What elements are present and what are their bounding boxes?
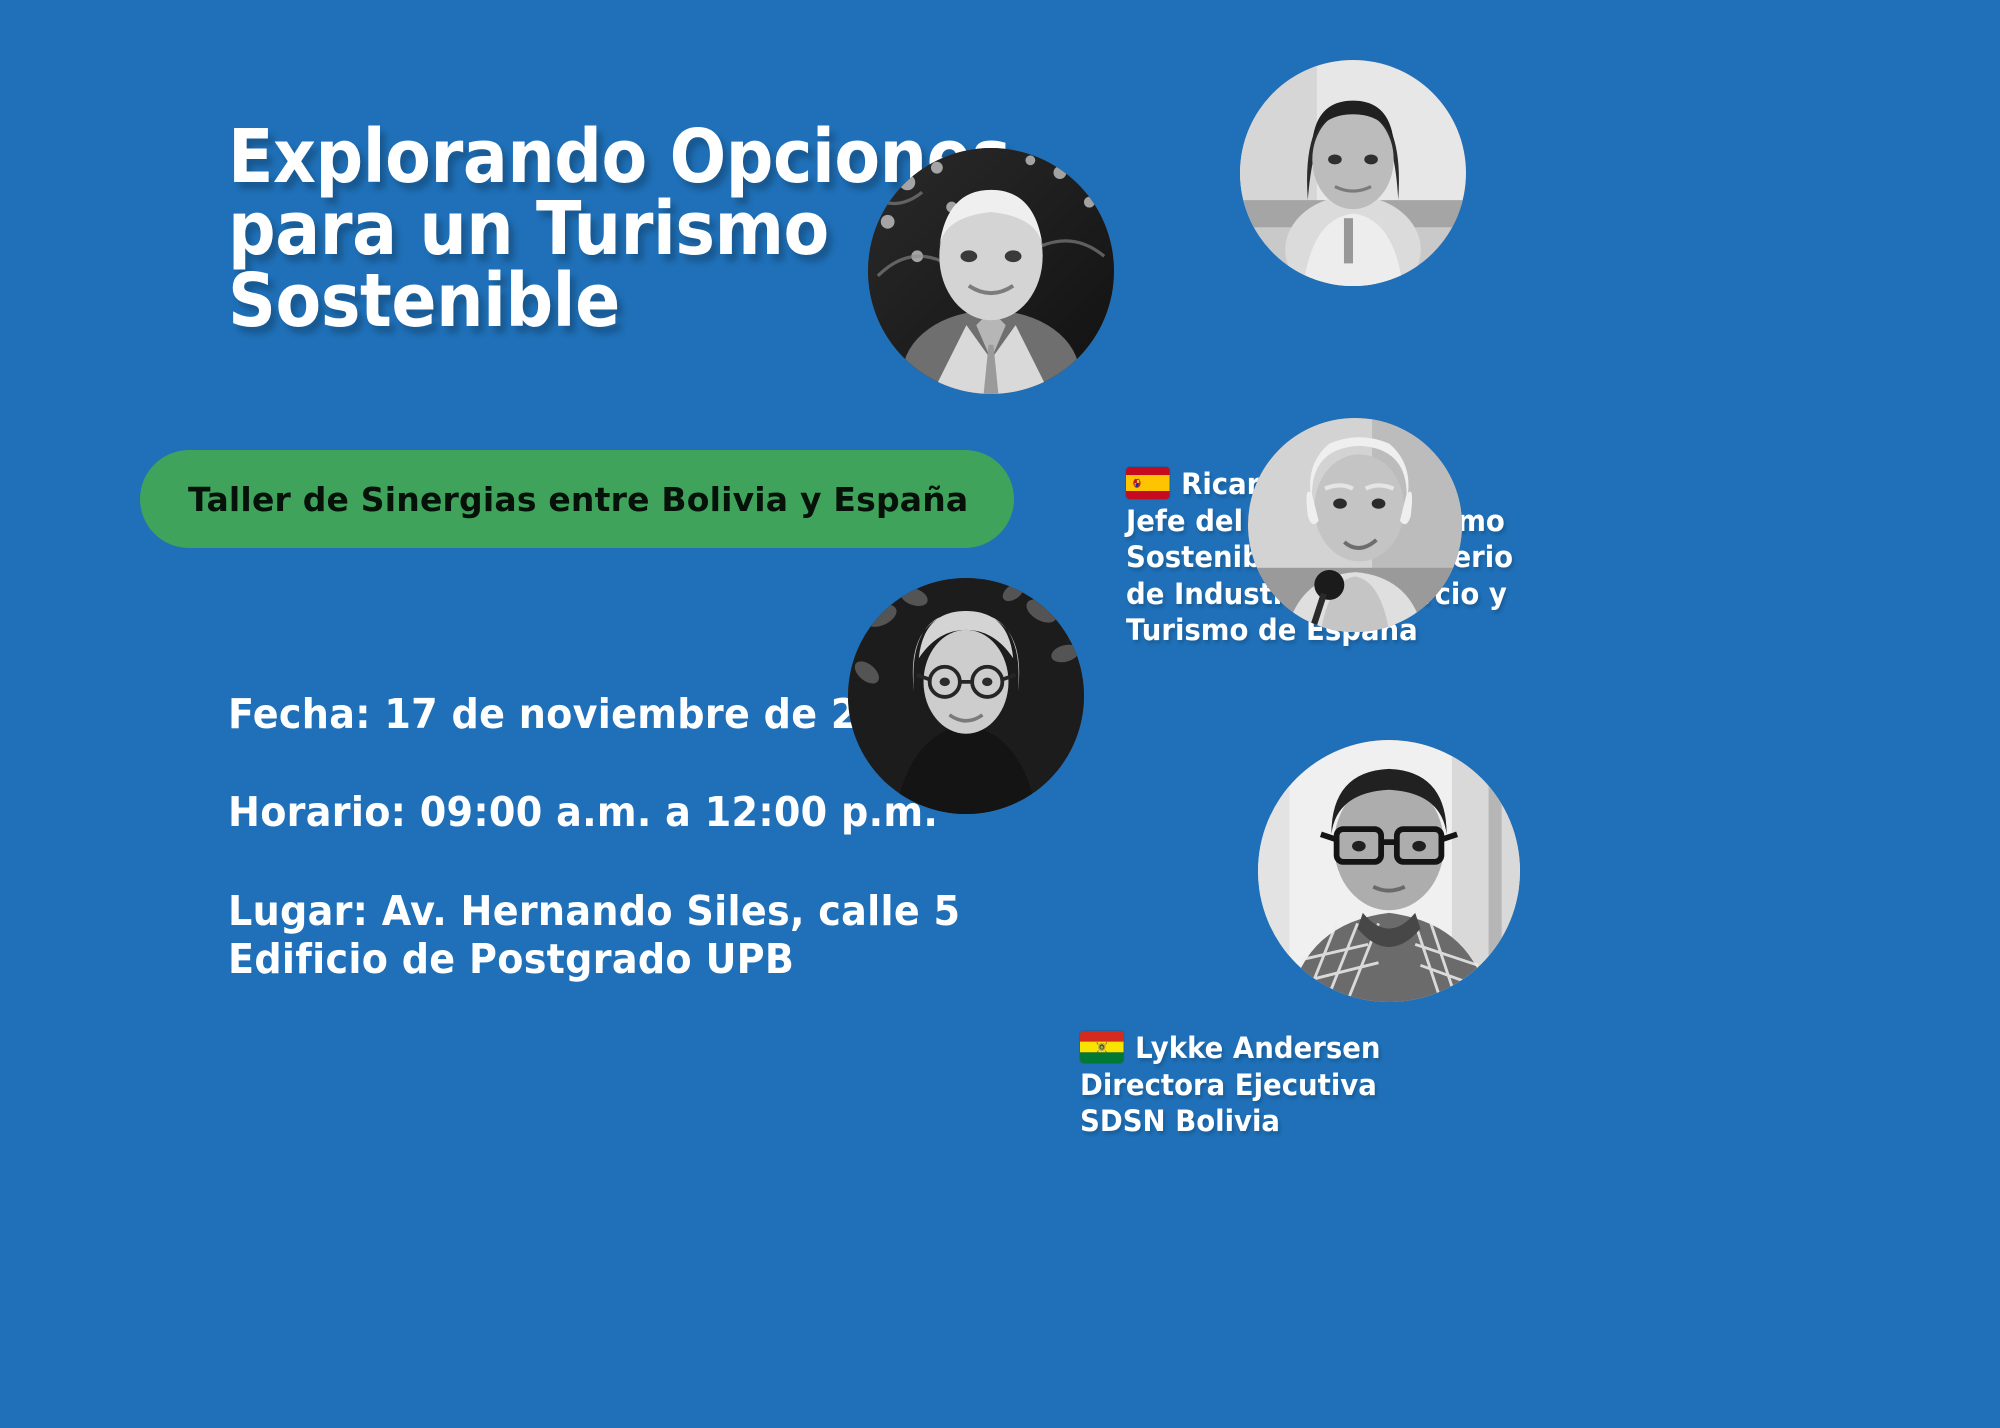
avatar-javier-benayas xyxy=(1248,418,1462,632)
speaker-name-lykke-andersen: Lykke Andersen xyxy=(1080,1030,1479,1067)
details-spacer xyxy=(228,837,991,887)
avatar-ricardo-blanco xyxy=(868,148,1114,394)
speaker-role-line: Directora Ejecutiva xyxy=(1080,1067,1479,1104)
title-line-3: Sostenible xyxy=(228,266,948,338)
title-line-2: para un Turismo xyxy=(228,194,948,266)
spain-flag-icon xyxy=(1126,467,1170,499)
subtitle-badge-label: Taller de Sinergias entre Bolivia y Espa… xyxy=(188,480,968,519)
avatar-daniel-larrea xyxy=(1258,740,1520,1002)
page-title: Explorando Opciones para un Turismo Sost… xyxy=(228,122,948,337)
event-venue-line-2: Edificio de Postgrado UPB xyxy=(228,935,991,983)
avatar-eliana-ampuero xyxy=(1240,60,1466,286)
avatar-lykke-andersen xyxy=(848,578,1084,814)
subtitle-badge: Taller de Sinergias entre Bolivia y Espa… xyxy=(140,450,1014,548)
event-poster: Explorando Opciones para un Turismo Sost… xyxy=(0,0,2000,1428)
event-venue-line-1: Lugar: Av. Hernando Siles, calle 5 xyxy=(228,887,991,935)
speaker-role-line: SDSN Bolivia xyxy=(1080,1103,1479,1140)
title-line-1: Explorando Opciones xyxy=(228,122,948,194)
bolivia-flag-icon xyxy=(1080,1031,1124,1063)
caption-lykke-andersen: Lykke Andersen Directora Ejecutiva SDSN … xyxy=(1080,1030,1479,1140)
event-time: Horario: 09:00 a.m. a 12:00 p.m. xyxy=(228,788,991,836)
